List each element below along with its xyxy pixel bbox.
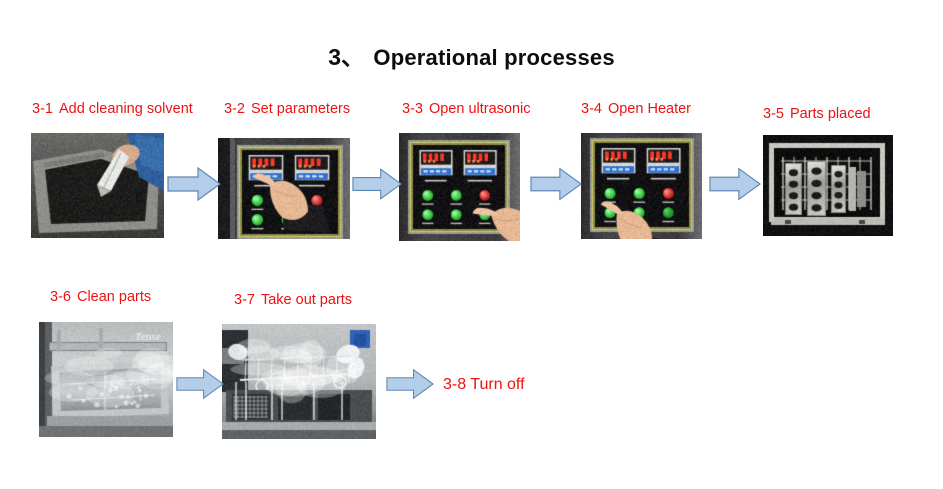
step-text-3-4: Open Heater xyxy=(608,101,691,117)
slide-canvas: 3、Operational processes 3-1Add cleaning … xyxy=(0,0,943,489)
step-index-3-6: 3-6 xyxy=(50,289,71,305)
page-title-number: 3、 xyxy=(328,44,364,70)
step-index-3-3: 3-3 xyxy=(402,101,423,117)
flow-arrow-1 xyxy=(167,166,221,207)
step-text-3-6: Clean parts xyxy=(77,289,151,305)
step-text-3-3: Open ultrasonic xyxy=(429,101,531,117)
flow-arrow-5 xyxy=(176,367,224,406)
step-text-3-5: Parts placed xyxy=(790,106,871,122)
flow-arrow-2 xyxy=(352,166,402,207)
step-index-3-5: 3-5 xyxy=(763,106,784,122)
step-label-3-3: 3-3Open ultrasonic xyxy=(402,101,531,117)
flow-arrow-4 xyxy=(709,166,761,207)
photo-3-7-take-out-parts xyxy=(222,324,376,439)
step-label-3-4: 3-4Open Heater xyxy=(581,101,691,117)
photo-3-2-set-parameters xyxy=(218,138,350,239)
step-label-3-6: 3-6Clean parts xyxy=(50,289,151,305)
photo-3-4-open-heater xyxy=(581,133,702,239)
step-label-3-7: 3-7Take out parts xyxy=(234,292,352,308)
step-label-3-5: 3-5Parts placed xyxy=(763,106,871,122)
step-text-3-2: Set parameters xyxy=(251,101,350,117)
step-text-3-1: Add cleaning solvent xyxy=(59,101,193,117)
step-label-3-2: 3-2Set parameters xyxy=(224,101,350,117)
page-title: 3、Operational processes xyxy=(0,38,943,72)
photo-3-5-parts-placed xyxy=(763,135,893,236)
photo-3-1-add-cleaning-solvent xyxy=(31,133,164,238)
step-text-3-7: Take out parts xyxy=(261,292,352,308)
photo-3-6-clean-parts xyxy=(39,322,173,437)
flow-arrow-6 xyxy=(386,367,434,406)
step-label-3-1: 3-1Add cleaning solvent xyxy=(32,101,193,117)
flow-arrow-3 xyxy=(530,166,582,207)
page-title-text: Operational processes xyxy=(373,45,614,70)
step-index-3-7: 3-7 xyxy=(234,292,255,308)
step-index-3-2: 3-2 xyxy=(224,101,245,117)
step-index-3-1: 3-1 xyxy=(32,101,53,117)
step-index-3-4: 3-4 xyxy=(581,101,602,117)
photo-3-3-open-ultrasonic xyxy=(399,133,520,241)
step-label-3-8-turn-off: 3-8 Turn off xyxy=(443,376,525,394)
